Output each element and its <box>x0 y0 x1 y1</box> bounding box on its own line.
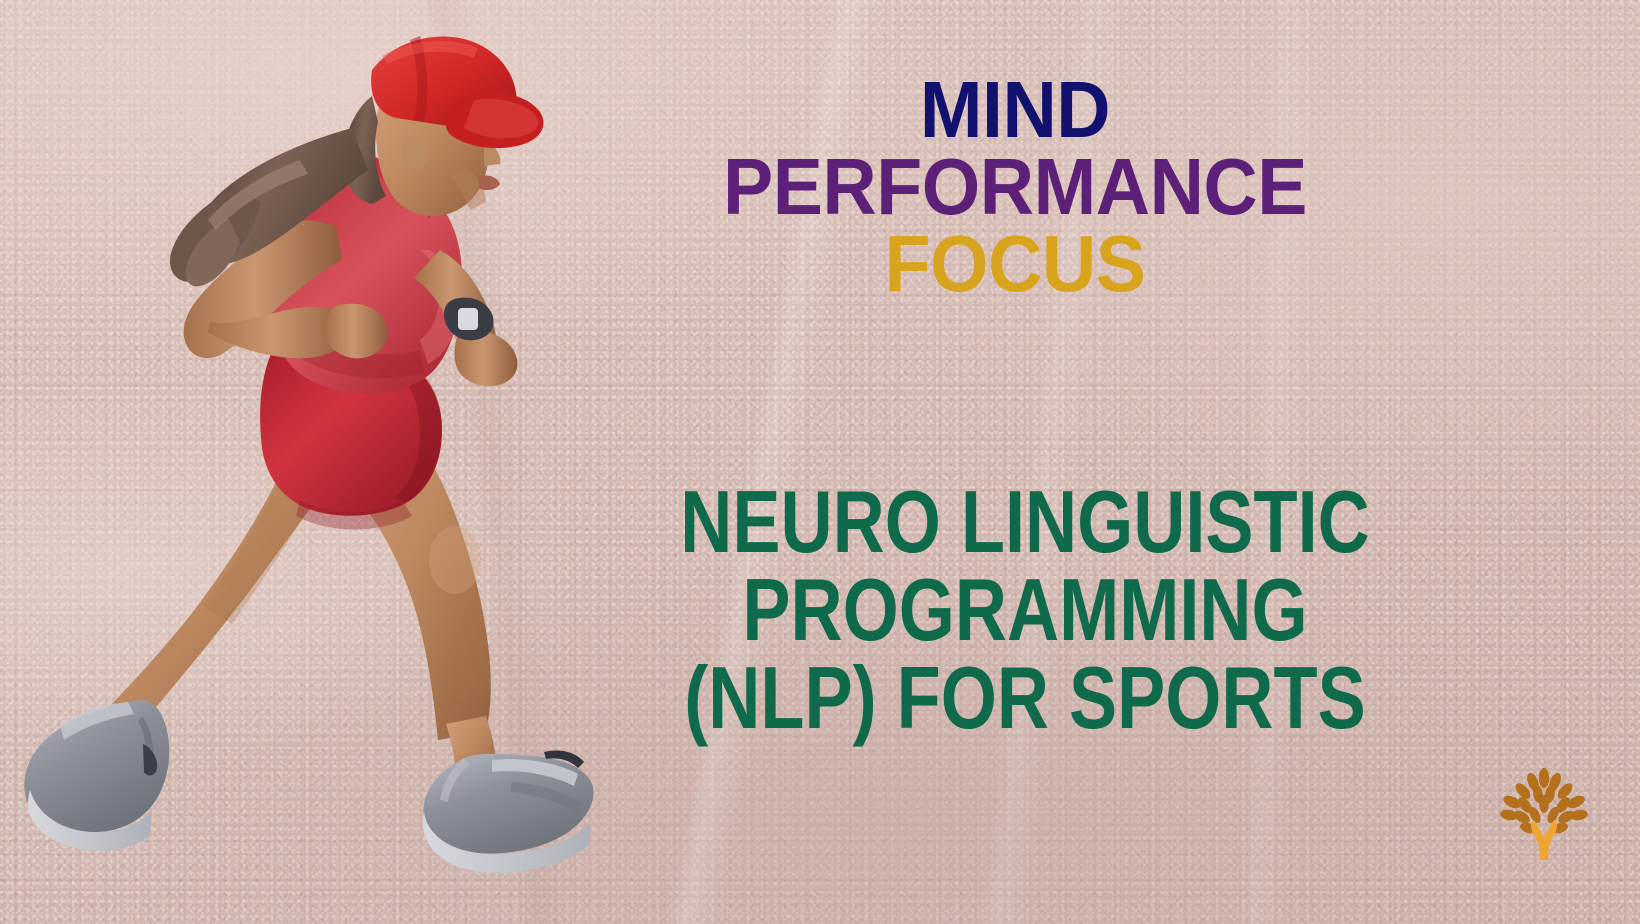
tree-logo <box>1498 760 1590 860</box>
kicker-heading: MIND PERFORMANCE FOCUS <box>600 72 1430 302</box>
kicker-line-performance: PERFORMANCE <box>625 149 1405 226</box>
main-headline: NEURO LINGUISTIC PROGRAMMING (NLP) FOR S… <box>590 478 1460 742</box>
kicker-line-mind: MIND <box>625 72 1405 149</box>
headline-line-2: PROGRAMMING <box>668 566 1381 654</box>
headline-line-1: NEURO LINGUISTIC <box>668 478 1381 566</box>
poster-canvas: MIND PERFORMANCE FOCUS NEURO LINGUISTIC … <box>0 0 1640 924</box>
headline-line-3: (NLP) FOR SPORTS <box>668 654 1381 742</box>
kicker-line-focus: FOCUS <box>625 226 1405 303</box>
runner-image <box>0 0 620 924</box>
